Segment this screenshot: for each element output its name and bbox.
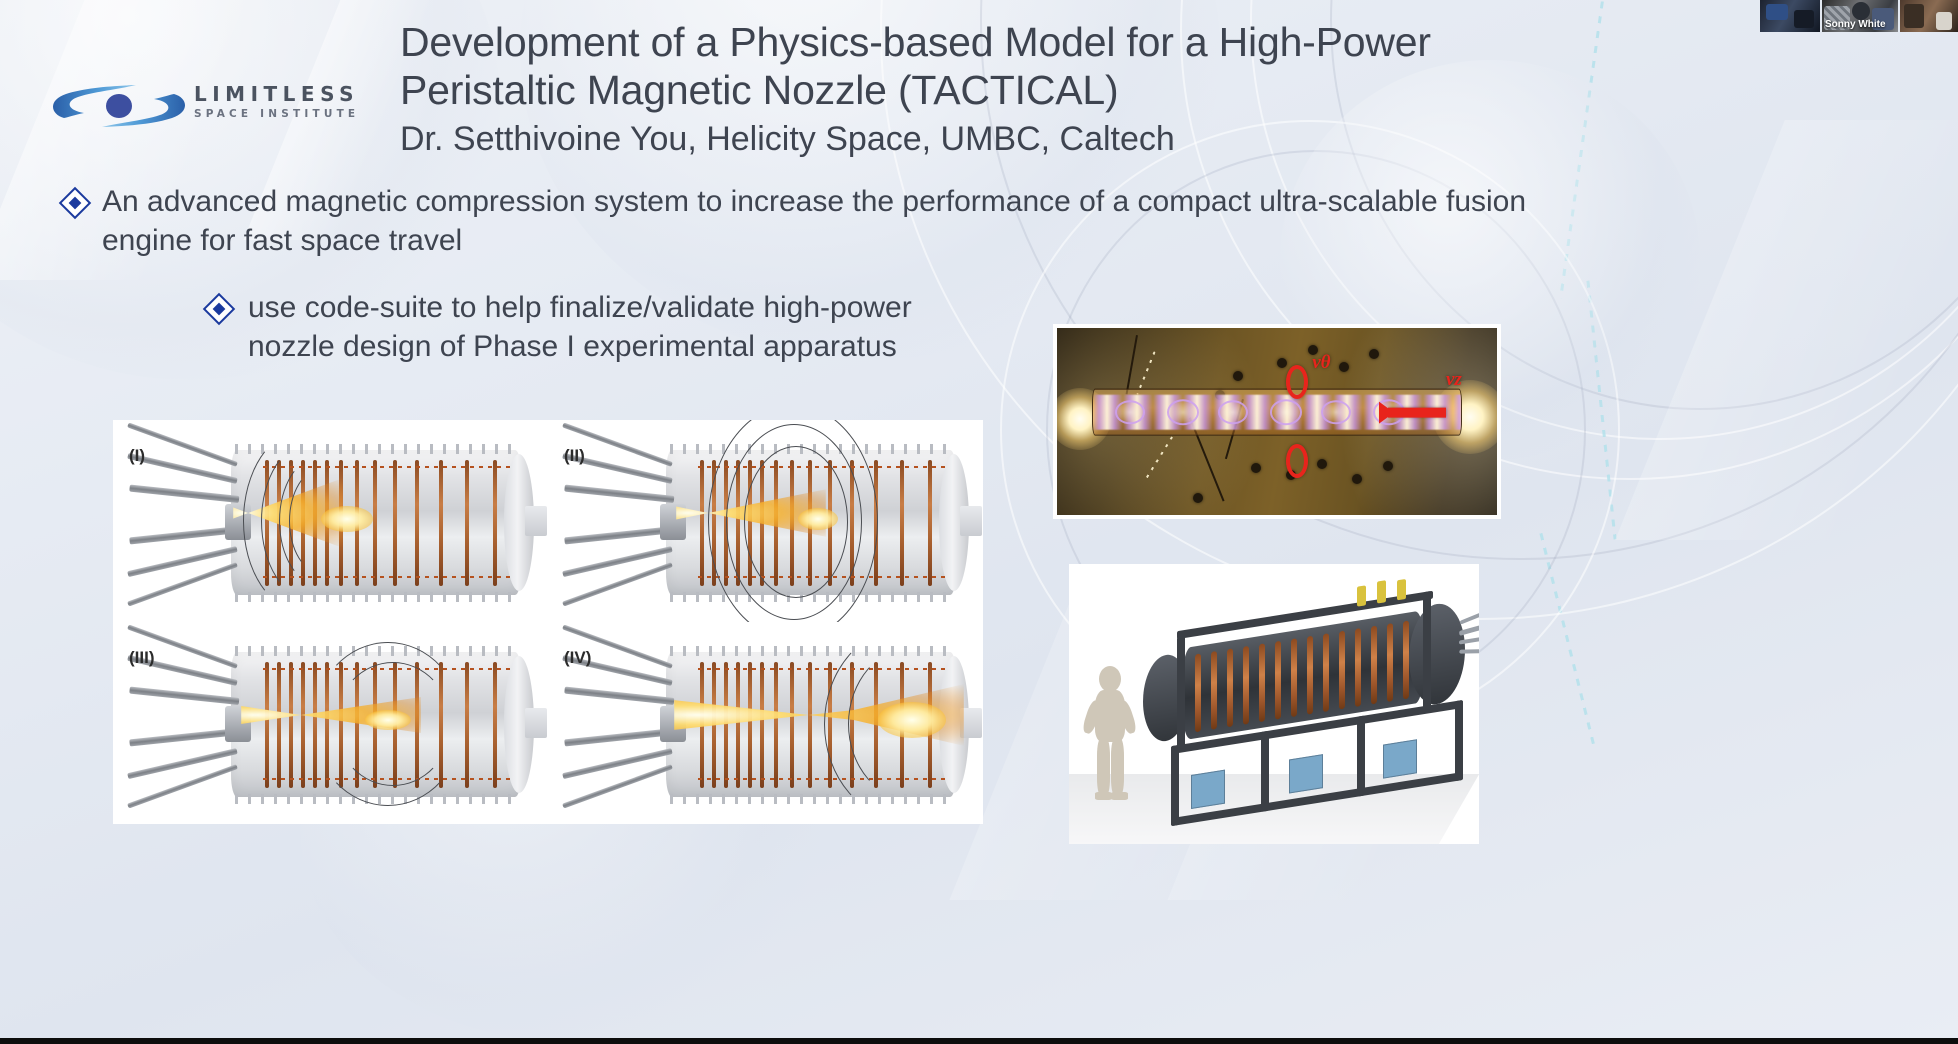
- azimuthal-velocity-loop-top-icon: [1286, 365, 1308, 399]
- azimuthal-velocity-loop-bottom-icon: [1286, 444, 1308, 478]
- player-letterbox-bar: [0, 1038, 1958, 1044]
- logo-line2: SPACE INSTITUTE: [194, 109, 359, 120]
- sim-panel-IV-label: (IV): [564, 648, 591, 668]
- participant-tile-2[interactable]: Sonny White: [1822, 0, 1898, 32]
- title-line-2: Peristaltic Magnetic Nozzle (TACTICAL): [400, 66, 1600, 114]
- participant-video-strip[interactable]: Sonny White: [1760, 0, 1958, 32]
- slide-subtitle-authors: Dr. Setthivoine You, Helicity Space, UMB…: [400, 118, 1600, 161]
- plasma-jet-vacuum-chamber-photo: vθ vz: [1053, 324, 1501, 519]
- axial-velocity-arrow-head-icon: [1379, 401, 1394, 423]
- human-scale-figure: [1083, 666, 1137, 816]
- diamond-bullet-icon: [64, 192, 86, 214]
- experimental-apparatus-cad-render: [1069, 564, 1479, 844]
- participant-tile-3[interactable]: [1900, 0, 1958, 32]
- sim-panel-III-label: (III): [129, 648, 155, 668]
- sim-panel-I: (I): [113, 420, 548, 622]
- bullet-level2: use code-suite to help finalize/validate…: [208, 288, 928, 366]
- title-line-1: Development of a Physics-based Model for…: [400, 18, 1600, 66]
- logo-line1: LIMITLESS: [194, 84, 359, 104]
- participant-tile-1[interactable]: [1760, 0, 1820, 32]
- bullet-level1-text: An advanced magnetic compression system …: [102, 182, 1544, 260]
- sim-panel-IV: (IV): [548, 622, 983, 824]
- sim-panel-II: (II): [548, 420, 983, 622]
- sim-panel-II-label: (II): [564, 446, 585, 466]
- plasma-gun-assembly: [135, 460, 245, 580]
- bullet-level2-text: use code-suite to help finalize/validate…: [248, 288, 928, 366]
- four-panel-nozzle-simulation-figure: (I): [113, 420, 983, 824]
- axial-velocity-arrow-icon: [1388, 407, 1446, 417]
- participant-tile-2-name: Sonny White: [1825, 19, 1886, 30]
- limitless-space-institute-logo: LIMITLESS SPACE INSTITUTE: [44, 62, 374, 152]
- bullet-level1: An advanced magnetic compression system …: [64, 182, 1544, 260]
- presentation-slide: LIMITLESS SPACE INSTITUTE Development of…: [0, 0, 1958, 1044]
- plasma-column-tube: [1092, 389, 1462, 436]
- annotation-v-theta: vθ: [1312, 352, 1330, 374]
- diamond-bullet-icon: [208, 298, 230, 320]
- limitless-space-orbit-logo-icon: [44, 70, 194, 142]
- sim-panel-III: (III): [113, 622, 548, 824]
- sim-panel-I-label: (I): [129, 446, 145, 466]
- annotation-v-z: vz: [1446, 369, 1462, 391]
- slide-title-block: Development of a Physics-based Model for…: [400, 18, 1600, 160]
